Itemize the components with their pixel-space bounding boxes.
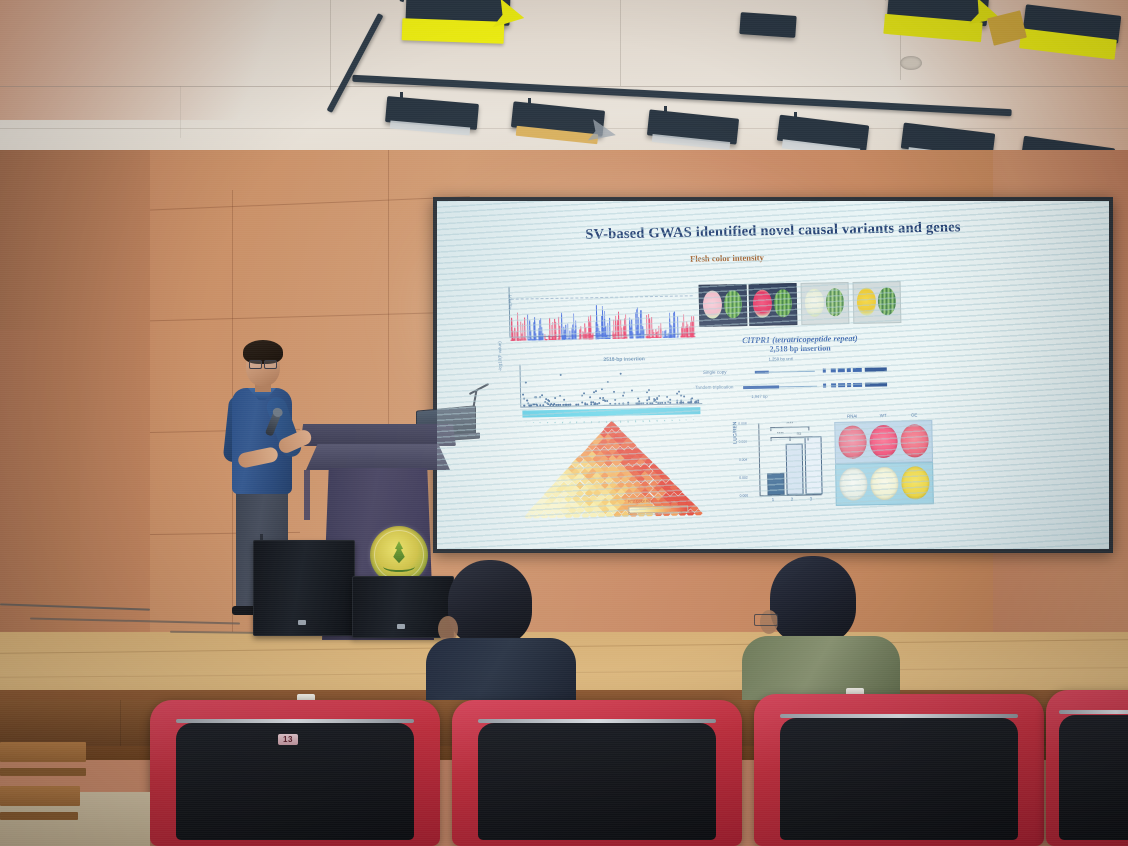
slide-content: SV-based GWAS identified novel causal va… [437,201,1109,549]
ld-scatter-point [640,402,642,404]
tandem-length-label: 1,947 bp [751,394,767,399]
manhattan-point [536,339,537,340]
ld-scatter-point [523,398,525,400]
ld-scatter-point [567,404,569,406]
manhattan-point [609,318,610,339]
manhattan-point [653,332,654,338]
luc-significance-marks: ****ns**** [736,414,822,416]
ld-scatter-point [618,403,620,405]
ld-connector-line [540,419,546,423]
podium-slanted-face [306,444,450,470]
luc-y-tick: 0.008 [738,422,747,426]
manhattan-point [599,328,600,339]
manhattan-point [580,338,581,339]
petri-row-top [834,420,933,464]
manhattan-point [558,335,559,340]
ld-scatter-point [669,399,671,401]
luc-x-tick-labels: 123 [736,414,822,416]
ld-scatter-point [683,395,685,397]
ld-connector-line [547,419,552,423]
luc-significance-bracket [789,436,808,440]
manhattan-point [597,324,598,339]
ld-connector-line [525,419,532,423]
ld-ylabel: -log10(P value) [497,341,503,371]
ld-scatter-point [638,397,640,399]
luc-bar [767,473,784,495]
ld-scatter-point [539,396,541,398]
ld-scatter-point [648,396,650,398]
luc-y-tick: 0.002 [739,476,748,480]
ld-scatter-point [610,402,612,404]
manhattan-point [670,337,671,338]
ld-scatter-point [607,381,609,383]
ld-scatter-point [536,404,538,406]
petri-row-bottom [835,462,934,506]
ld-scatter-point [523,404,525,406]
ld-scatter-point [664,402,666,404]
ld-scatter-point [614,399,616,401]
manhattan-point [649,337,650,338]
manhattan-point [674,311,676,337]
auditorium-photo: SV-based GWAS identified novel causal va… [0,0,1128,846]
ld-scatter-point [613,390,615,392]
fruit-phenotype-panels [699,281,900,331]
manhattan-point [555,339,556,340]
manhattan-point [652,336,653,338]
ld-scatter-point [534,397,536,399]
petri-column-label: OE [900,412,928,418]
manhattan-point [592,333,593,339]
manhattan-point [524,339,525,340]
fruit-panel-3 [801,282,850,325]
ld-scatter-point [614,402,616,404]
seat-number-plate: 13 [278,734,298,745]
ld-connector-line [681,419,687,420]
gene-annotation-block: ClTPR1 (tetratricopeptide repeat) 2,518 … [695,333,905,355]
ld-scatter-point [651,402,653,404]
slide-title: SV-based GWAS identified novel causal va… [437,216,1109,246]
ld-scatter-point [658,395,660,397]
manhattan-point [680,336,681,337]
manhattan-point [564,339,565,340]
ld-connector-line [569,419,573,423]
ld-connector-line [626,419,628,422]
ld-scatter-point [544,401,546,403]
manhattan-point [684,335,685,337]
manhattan-point [627,336,628,339]
ld-scatter-point [602,397,604,399]
manhattan-point [552,338,553,340]
ld-scatter-point [680,401,682,403]
manhattan-point [638,318,639,339]
ld-scatter-point [590,403,592,405]
transgenic-callus-panel: RNAiWTOE [834,412,936,510]
ld-scatter-point [642,402,644,404]
manhattan-point [532,339,533,340]
ld-scatter-point [628,403,630,405]
luc-significance-bracket [770,426,809,431]
ld-connector-line [667,419,672,421]
manhattan-point [595,338,596,339]
ld-scatter-point [695,401,697,403]
unit-length-label: 1,259 bp unit [769,356,793,361]
manhattan-point [587,338,588,339]
ld-colorbar: R^2 Color Key 0 1 [628,503,686,516]
ld-connector-line [660,419,665,421]
ld-scatter-point [595,390,597,392]
stage-light-upper-1 [400,0,520,52]
ld-scatter-point [526,399,528,401]
ld-scatter-point [560,373,562,375]
ld-scatter-point [586,403,588,405]
luc-x-tick: 2 [791,497,794,502]
seat-row-front-3[interactable] [754,694,1044,846]
ld-scatter-point [529,404,531,406]
ld-scatter-point [623,392,625,394]
manhattan-point [658,337,659,338]
audience-glasses-icon [754,614,778,626]
luc-sig-overall: **** [784,421,796,426]
ld-scatter-point [554,397,556,399]
manhattan-point [541,327,542,340]
luc-y-tick-labels: 0.0000.0020.0040.0060.008 [736,414,822,416]
ld-scatter-point [599,397,601,399]
ld-scatter-point [547,399,549,401]
fruit-panel-4 [853,281,902,324]
manhattan-point [633,333,634,339]
fruit-panel-1 [699,284,748,327]
ld-connector-line [654,419,658,422]
manhattan-point [647,335,648,338]
ld-connector-line [591,419,593,423]
manhattan-point [520,322,521,341]
luc-significance-bracket [771,437,791,441]
podium-side-left [304,470,310,520]
ld-scatter-point [596,403,598,405]
ld-colorbar-min: 0 [628,512,630,516]
manhattan-ylabel: -log10(P) [507,295,512,310]
petri-column-label: RNAi [838,413,866,419]
manhattan-point [575,320,576,339]
ld-connector-line [584,419,587,423]
ld-scatter-point [589,396,591,398]
ld-scatter-point [669,402,671,404]
ld-scatter-point [584,403,586,405]
manhattan-point [546,339,547,340]
ld-connector-line [606,419,607,423]
ld-colorbar-label: R^2 Color Key [628,499,652,503]
ld-scatter-point [678,390,680,392]
ld-connector-line [694,419,701,420]
ld-scatter-point [563,399,565,401]
ld-colorbar-max: 1 [680,511,682,515]
manhattan-point [624,333,625,339]
ld-connector-line [598,419,600,423]
ld-scatter-point [680,394,682,396]
ld-scatter-point [666,396,668,398]
ld-scatter-point [676,393,678,395]
ld-scatter-point [622,395,624,397]
stage-light-upper-4 [740,14,800,44]
audience-member-left [432,560,552,710]
manhattan-point [512,338,513,341]
ld-scatter-point [649,402,651,404]
manhattan-point [688,336,689,337]
luc-y-tick: 0.000 [740,494,749,498]
manhattan-point [664,337,665,338]
ld-scatter-point [577,403,579,405]
ld-scatter-point [581,401,583,403]
manhattan-point [619,338,620,339]
stage-light-upper-3 [1020,10,1128,66]
ld-scatter-point [539,404,541,406]
stage-monitor-speaker-left [253,540,355,636]
manhattan-point [566,339,567,340]
manhattan-point [656,335,657,338]
ld-connector-line [633,419,636,422]
ld-scatter-point [581,395,583,397]
luc-x-tick: 1 [772,497,775,502]
manhattan-point [640,332,641,339]
ld-connector-line [674,419,680,421]
seat-row-front-2[interactable] [452,700,742,846]
ld-scatter-point [620,373,622,375]
manhattan-point [539,331,540,340]
slide-subtitle: Flesh color intensity [587,250,867,265]
ld-block-panel: -log10(P value) 2518-bp insertion R^2 Co… [499,361,712,525]
ld-connector-line [554,419,559,423]
manhattan-point [575,338,576,339]
manhattan-point [563,334,564,340]
ld-scatter-points [521,361,702,406]
ld-scatter-point [646,391,648,393]
manhattan-points [508,283,694,287]
ld-scatter-point [522,393,524,395]
luciferase-bar-chart: LUC/REN 0.0000.0020.0040.0060.008 123 **… [736,414,824,512]
ld-scatter-point [533,404,535,406]
ld-scatter-point [598,402,600,404]
ld-connector-line [688,419,695,420]
ld-scatter-point [559,395,561,397]
petri-column-label: WT [869,413,897,419]
manhattan-point [529,320,530,340]
ld-scatter-point [542,404,544,406]
stage-light-upper-2 [880,0,1000,48]
manhattan-point [569,339,570,340]
ld-scatter-point [593,391,595,393]
ld-scatter-point [622,402,624,404]
ld-scatter-point [690,401,692,403]
manhattan-point [514,340,515,341]
luc-bar [805,436,823,494]
manhattan-point [630,337,631,338]
manhattan-point [573,314,574,340]
ld-chromosome-track [522,407,700,417]
ld-connector-line [576,419,579,423]
manhattan-point [524,318,525,341]
manhattan-point [667,335,668,338]
ld-scatter-point [525,381,527,383]
manhattan-point [625,338,626,339]
ld-connector-line [532,419,538,423]
manhattan-point [686,332,687,337]
luc-sig-ns: ns [793,431,805,436]
ld-scatter-point [601,388,603,390]
manhattan-point [549,339,550,340]
seat-row-front-4[interactable] [1046,690,1128,846]
gene-structure-diagram: 1,259 bp unit Single copy Tandem triplic… [695,357,908,405]
manhattan-plot: -log10(P) [508,283,695,341]
ld-scatter-point [569,404,571,406]
ld-scatter-point [590,401,592,403]
ld-scatter-point [630,389,632,391]
manhattan-point [533,339,534,340]
led-presentation-screen: SV-based GWAS identified novel causal va… [433,197,1113,553]
fruit-panel-2 [749,283,798,326]
luc-bar [786,443,804,495]
manhattan-point [677,337,678,338]
ceiling-speaker [900,56,922,70]
stage-light-truss-2 [512,104,608,152]
ld-connector-line [640,419,643,422]
luc-x-tick: 3 [810,496,813,501]
luc-y-tick: 0.006 [739,440,748,444]
ld-scatter-point [646,399,648,401]
manhattan-point [588,338,589,339]
ld-connector-line [647,419,651,422]
ld-connector-line [620,419,622,423]
manhattan-point [583,338,584,340]
aisle-steps [0,742,124,846]
ld-scatter-point [646,402,648,404]
luc-y-tick: 0.004 [739,458,748,462]
glasses-icon [249,360,277,367]
manhattan-point [582,331,583,340]
luc-sig-1: **** [774,431,786,436]
ld-scatter-point [541,395,543,397]
manhattan-point [677,316,678,337]
luc-bars [736,414,822,416]
podium-top-surface [300,424,456,446]
manhattan-point [642,337,643,338]
ld-scatter-point [560,404,562,406]
ld-scatter-point [682,401,684,403]
petri-column-labels: RNAiWTOE [834,412,934,414]
seat-row-front-1[interactable]: 13 [150,700,440,846]
ld-scatter-point [648,389,650,391]
manhattan-point [674,337,675,338]
ld-scatter-point [697,399,699,401]
manhattan-threshold-line [511,295,693,300]
ld-scatter-point [606,400,608,402]
ld-scatter-point [553,403,555,405]
manhattan-point [518,340,519,341]
manhattan-point [660,336,661,337]
stage-light-truss-1 [386,98,482,144]
ld-connector-line [613,419,614,423]
manhattan-point [520,340,521,341]
ld-connector-line [562,419,567,423]
ld-scatter-point [661,402,663,404]
